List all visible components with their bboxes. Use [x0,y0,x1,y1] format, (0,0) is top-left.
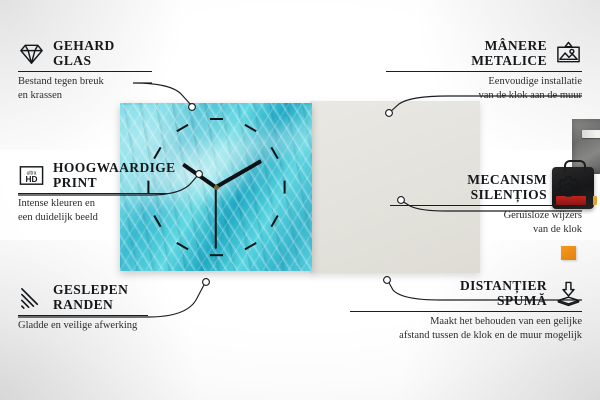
feature-rule [350,311,582,312]
feature-header: GEHARDGLAS [18,38,218,68]
feature-header: ultra HD HOOGWAARDIGEPRINT [18,160,228,190]
framed-picture-icon [555,40,582,67]
feature-rule [18,193,170,194]
diamond-icon [18,40,45,67]
foam-spacer [561,246,576,260]
feature-title: DISTANȚIERSPUMĂ [460,278,547,308]
feature-gehard-glas: GEHARDGLAS Bestand tegen breuk en krasse… [18,38,218,102]
feature-description: Maakt het behouden van een gelijke afsta… [332,315,582,342]
feature-description: Gladde en veilige afwerking [18,319,218,332]
clock-tick [210,118,223,120]
feature-title: MECANISMSILENȚIOS [467,172,547,202]
feature-description: Intense kleuren en een duidelijk beeld [18,197,228,224]
feature-manere-metalice: MÂNEREMETALICE Eenvoudige installatie va… [367,38,582,102]
feature-title: HOOGWAARDIGEPRINT [53,160,176,190]
gear-icon [555,174,582,201]
feature-title: MÂNEREMETALICE [471,38,547,68]
battery-terminal [593,196,597,205]
feature-title: GEHARDGLAS [53,38,115,68]
feature-header: GESLEPENRANDEN [18,282,218,312]
feature-title: GESLEPENRANDEN [53,282,128,312]
feature-geslepen-randen: GESLEPENRANDEN Gladde en veilige afwerki… [18,282,218,333]
feature-description: Bestand tegen breuk en krassen [18,75,218,102]
infographic-canvas: GEHARDGLAS Bestand tegen breuk en krasse… [0,0,600,400]
feature-header: DISTANȚIERSPUMĂ [332,278,582,308]
feature-hoogwaardige-print: ultra HD HOOGWAARDIGEPRINT Intense kleur… [18,160,228,224]
beveled-edges-icon [18,284,45,311]
feature-rule [386,71,582,72]
ultra-hd-icon: ultra HD [18,162,45,189]
feature-rule [390,205,582,206]
feature-header: MECANISMSILENȚIOS [372,172,582,202]
feature-description: Geruisloze wijzers van de klok [372,209,582,236]
feature-rule [18,315,148,316]
feature-header: MÂNEREMETALICE [367,38,582,68]
press-down-layers-icon [555,280,582,307]
feature-mecanism-silentios: MECANISMSILENȚIOS Geruisloze wijzers van… [372,172,582,236]
clock-tick [210,254,223,256]
hanger-slot [582,130,600,138]
feature-distantier-spuma: DISTANȚIERSPUMĂ Maakt het behouden van e… [332,278,582,342]
feature-description: Eenvoudige installatie van de klok aan d… [367,75,582,102]
svg-text:HD: HD [26,173,38,183]
feature-rule [18,71,152,72]
mechanism-hook [564,160,586,172]
clock-tick [283,180,285,193]
